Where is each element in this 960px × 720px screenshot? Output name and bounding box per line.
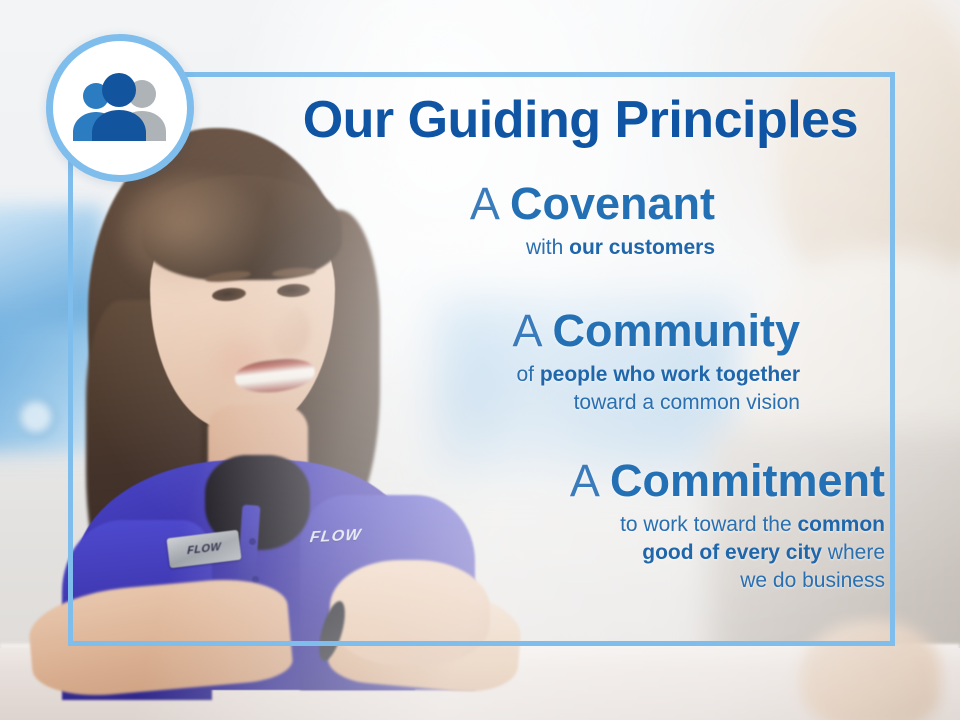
principle-noun: Commitment <box>610 455 885 506</box>
principle-article: A <box>470 178 498 229</box>
poster-text-content: Our Guiding Principles A Covenant with o… <box>68 72 895 646</box>
principle-heading: A Community <box>68 307 800 355</box>
principle-covenant: A Covenant with our customers <box>68 180 895 262</box>
photo-background-emblem <box>14 395 58 439</box>
poster-canvas: FLOW FLOW Our Guiding <box>0 0 960 720</box>
principle-commitment: A Commitment to work toward the common g… <box>68 457 895 595</box>
principle-line-part: where <box>822 541 885 564</box>
principle-description: of people who work together toward a com… <box>68 361 800 417</box>
principle-line: we do business <box>68 567 885 595</box>
principle-line-part-bold: people who work together <box>540 363 800 386</box>
principle-line-part: toward a common vision <box>574 391 800 414</box>
principle-line: toward a common vision <box>68 389 800 417</box>
principle-article: A <box>512 305 540 356</box>
principle-line-part: to work toward the <box>620 513 797 536</box>
principle-line-part-bold: common <box>797 513 885 536</box>
principle-line-part-bold: our customers <box>569 236 715 259</box>
principle-noun: Covenant <box>510 178 715 229</box>
principle-heading: A Commitment <box>68 457 885 505</box>
principle-heading: A Covenant <box>68 180 715 228</box>
principle-line: good of every city where <box>68 539 885 567</box>
principle-line-part: we do business <box>740 569 885 592</box>
principle-line: to work toward the common <box>68 511 885 539</box>
principle-description: with our customers <box>68 234 715 262</box>
page-title: Our Guiding Principles <box>68 94 858 146</box>
principle-article: A <box>570 455 598 506</box>
principle-line: with our customers <box>68 234 715 262</box>
principle-line-part-bold: good of every city <box>642 541 822 564</box>
principle-noun: Community <box>553 305 801 356</box>
principle-description: to work toward the common good of every … <box>68 511 885 595</box>
principle-line-part: with <box>526 236 569 259</box>
principle-line-part: of <box>516 363 539 386</box>
principle-community: A Community of people who work together … <box>68 307 895 417</box>
principle-line: of people who work together <box>68 361 800 389</box>
